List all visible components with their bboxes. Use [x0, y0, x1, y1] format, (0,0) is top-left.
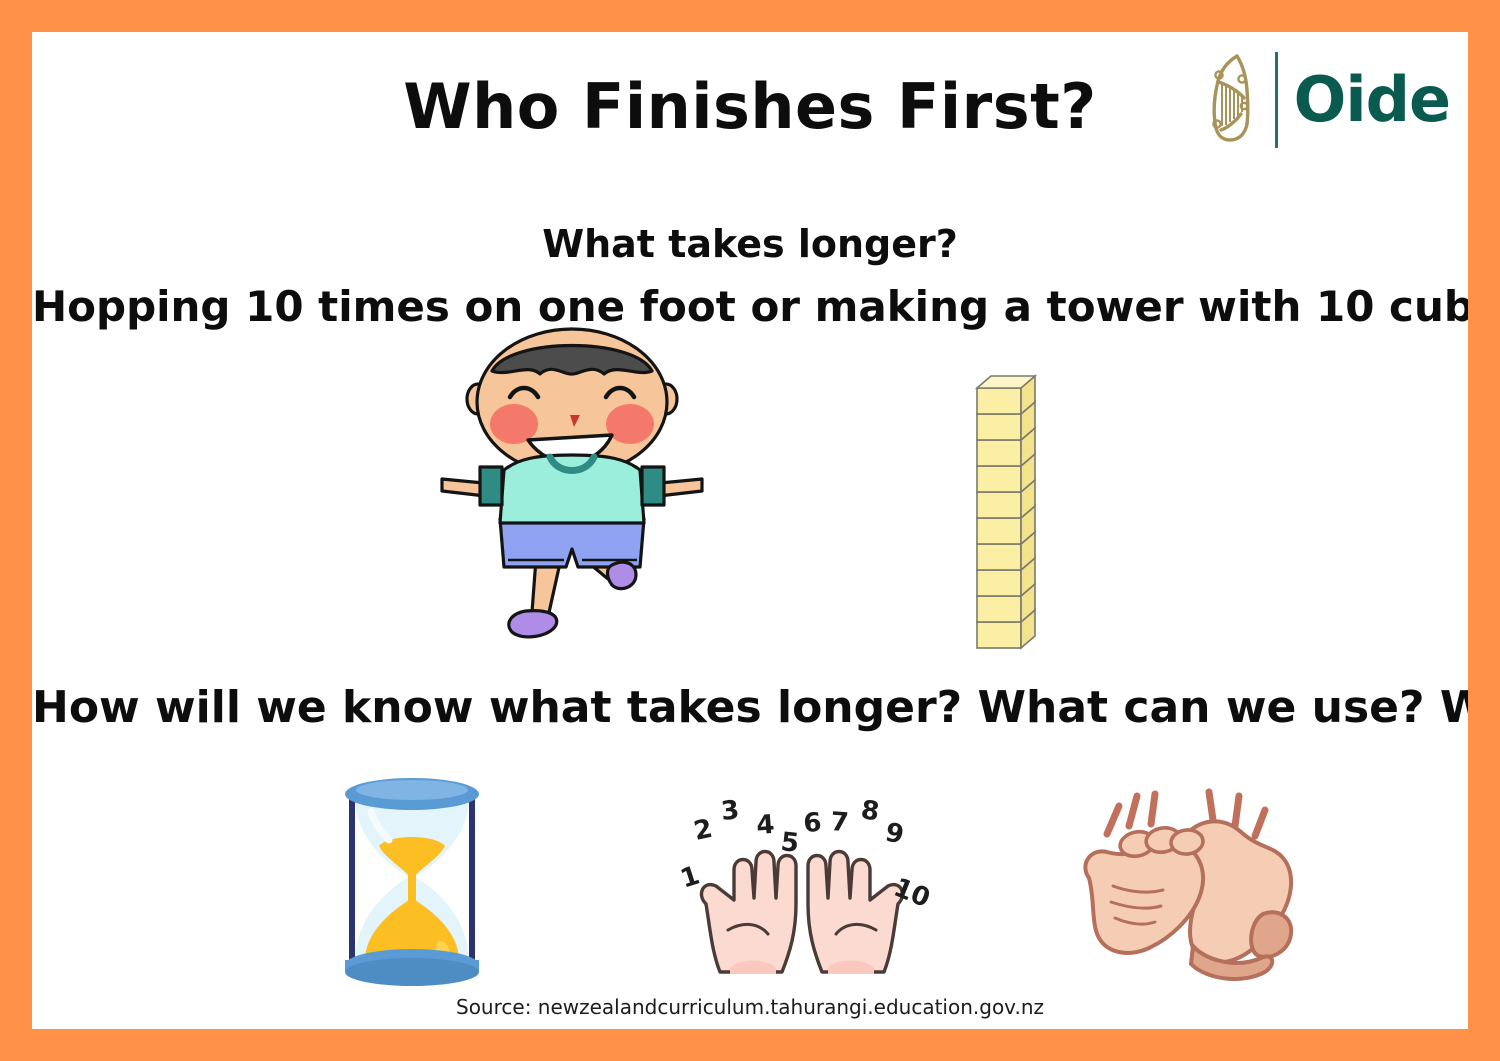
- finger-number-9: 9: [883, 818, 907, 851]
- counting-fingers-illustration: 1 2 3 4 5 6 7 8 9 10: [672, 782, 932, 987]
- finger-number-6: 6: [802, 808, 822, 839]
- finger-number-3: 3: [720, 795, 741, 827]
- slide-root: Who Finishes First?: [0, 0, 1500, 1061]
- hopping-child-illustration: [432, 327, 712, 647]
- question-line-3: How will we know what takes longer? What…: [32, 682, 1468, 733]
- ten-cube-tower-illustration: [932, 332, 1092, 652]
- clapping-hands-illustration: [1067, 782, 1337, 987]
- question-line-2: Hopping 10 times on one foot or making a…: [32, 282, 1468, 331]
- question-line-1: What takes longer?: [32, 222, 1468, 266]
- oide-logo: Oide: [1197, 48, 1450, 152]
- source-credit: Source: newzealandcurriculum.tahurangi.e…: [32, 995, 1468, 1019]
- finger-number-7: 7: [830, 807, 850, 838]
- logo-wordmark: Oide: [1294, 69, 1450, 131]
- finger-number-2: 2: [691, 814, 715, 847]
- finger-number-8: 8: [859, 795, 881, 827]
- slide-canvas: Who Finishes First?: [32, 32, 1468, 1029]
- finger-number-5: 5: [779, 827, 800, 859]
- finger-number-4: 4: [755, 810, 775, 841]
- hourglass-illustration: [297, 772, 527, 987]
- finger-number-1: 1: [677, 861, 703, 895]
- irish-harp-icon: [1197, 48, 1259, 152]
- logo-divider: [1275, 52, 1278, 148]
